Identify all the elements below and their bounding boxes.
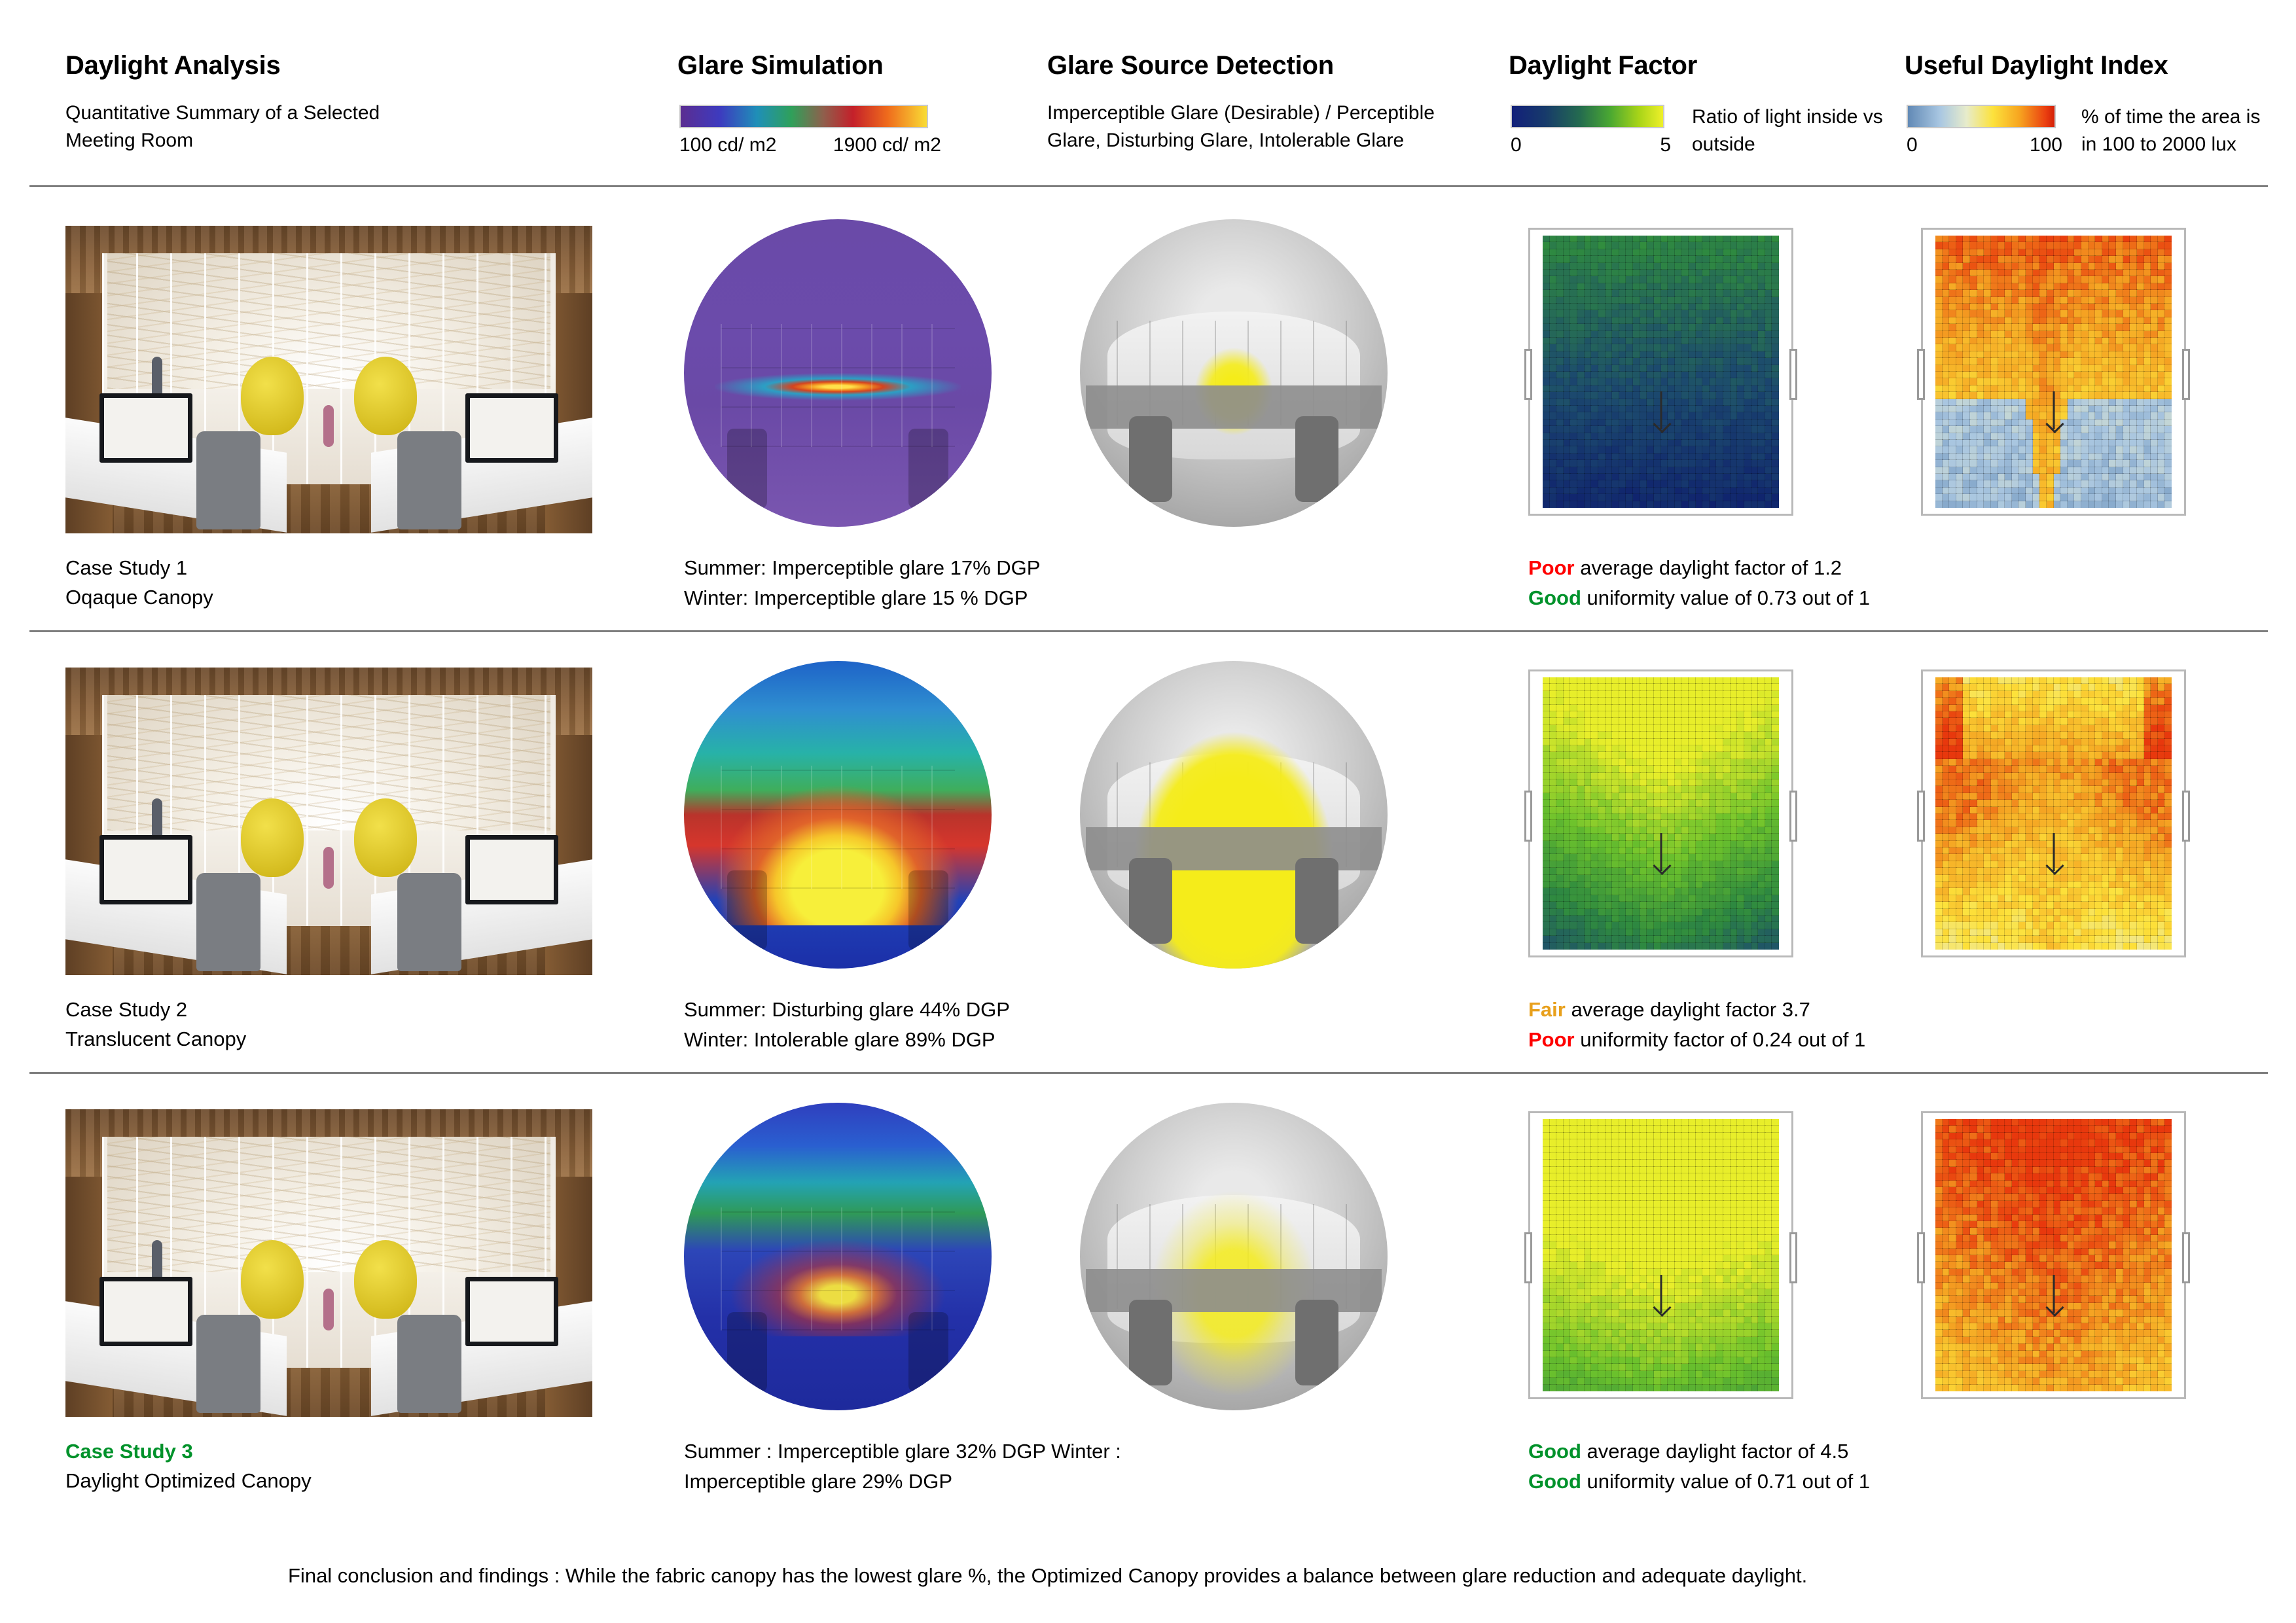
udi-max-label: 100 [2030,134,2062,156]
uniformity-rating-text: uniformity value of 0.73 out of 1 [1581,586,1870,609]
north-arrow [1660,833,1662,871]
header-divider [29,185,2268,187]
daylight-factor-result-text: Poor average daylight factor of 1.2Good … [1528,553,2065,613]
useful-daylight-index-heatmap [1921,1111,2186,1399]
uniformity-line: Good uniformity value of 0.73 out of 1 [1528,583,2065,613]
case-study-name: Oqaque Canopy [65,582,213,612]
daylight-factor-result-text: Fair average daylight factor 3.7Poor uni… [1528,995,2065,1055]
case-study-row: Case Study 2Translucent CanopySummer: Di… [0,638,2296,1070]
row1-divider [29,630,2268,632]
glare-sim-max-label: 1900 cd/ m2 [833,134,941,156]
glare-simulation-scale: 100 cd/ m2 1900 cd/ m2 [679,134,941,156]
glare-simulation-fisheye [684,219,992,527]
glare-simulation-fisheye [684,661,992,969]
north-arrow [1660,1275,1662,1313]
average-daylight-factor-line: Poor average daylight factor of 1.2 [1528,553,2065,583]
daylight-factor-heatmap [1528,1111,1793,1399]
case-study-label: Case Study 2 [65,995,246,1024]
glare-result-text: Summer: Imperceptible glare 17% DGPWinte… [684,553,1312,613]
uniformity-rating-badge: Good [1528,586,1581,609]
daylight-factor-heatmap [1528,228,1793,516]
glare-winter-line: Winter: Intolerable glare 89% DGP [684,1025,1312,1055]
glare-result-text: Summer: Disturbing glare 44% DGPWinter: … [684,995,1312,1055]
glare-winter-line: Winter: Imperceptible glare 15 % DGP [684,583,1312,613]
north-arrow [2053,391,2054,429]
case-study-name: Daylight Optimized Canopy [65,1466,312,1495]
df-rating-text: average daylight factor 3.7 [1566,998,1810,1021]
df-rating-badge: Good [1528,1440,1581,1463]
daylight-factor-result-text: Good average daylight factor of 4.5Good … [1528,1436,2065,1497]
glare-simulation-fisheye [684,1103,992,1410]
glare-simulation-title: Glare Simulation [677,51,884,80]
case-study-caption: Case Study 3Daylight Optimized Canopy [65,1436,312,1495]
useful-daylight-index-heatmap [1921,669,2186,957]
average-daylight-factor-line: Fair average daylight factor 3.7 [1528,995,2065,1025]
useful-daylight-index-title: Useful Daylight Index [1905,51,2168,80]
daylight-factor-colorbar [1511,105,1664,128]
df-rating-badge: Fair [1528,998,1566,1021]
glare-source-detection-fisheye [1080,1103,1388,1410]
case-study-row: Case Study 3Daylight Optimized CanopySum… [0,1080,2296,1512]
df-max-label: 5 [1660,134,1671,156]
glare-result-text: Summer : Imperceptible glare 32% DGP Win… [684,1436,1312,1497]
glare-source-detection-fisheye [1080,219,1388,527]
daylight-analysis-board: Daylight Analysis Quantitative Summary o… [0,0,2296,1623]
case-study-label: Case Study 3 [65,1436,312,1466]
uniformity-rating-text: uniformity value of 0.71 out of 1 [1581,1470,1870,1493]
page-subtitle: Quantitative Summary of a Selected Meeti… [65,99,432,154]
row2-divider [29,1072,2268,1074]
average-daylight-factor-line: Good average daylight factor of 4.5 [1528,1436,2065,1467]
interior-render-image [65,1109,592,1417]
uniformity-rating-badge: Good [1528,1470,1581,1493]
uniformity-line: Poor uniformity factor of 0.24 out of 1 [1528,1025,2065,1055]
udi-min-label: 0 [1907,134,1918,156]
interior-render-image [65,226,592,533]
useful-daylight-index-heatmap [1921,228,2186,516]
case-study-name: Translucent Canopy [65,1024,246,1054]
useful-daylight-index-colorbar [1907,105,2056,128]
glare-source-detection-fisheye [1080,661,1388,969]
df-rating-badge: Poor [1528,556,1575,579]
conclusion-text: Final conclusion and findings : While th… [288,1564,2055,1588]
df-min-label: 0 [1511,134,1522,156]
uniformity-line: Good uniformity value of 0.71 out of 1 [1528,1467,2065,1497]
glare-winter-line: Imperceptible glare 29% DGP [684,1467,1312,1497]
glare-sim-min-label: 100 cd/ m2 [679,134,776,156]
daylight-factor-scale: 0 5 [1511,134,1671,156]
uniformity-rating-badge: Poor [1528,1028,1575,1051]
north-arrow [1660,391,1662,429]
interior-render-image [65,668,592,975]
glare-summer-line: Summer : Imperceptible glare 32% DGP Win… [684,1436,1312,1467]
daylight-factor-description: Ratio of light inside vs outside [1692,103,1888,158]
glare-summer-line: Summer: Imperceptible glare 17% DGP [684,553,1312,583]
north-arrow [2053,833,2054,871]
board-header: Daylight Analysis Quantitative Summary o… [0,0,2296,180]
case-study-row: Case Study 1Oqaque CanopySummer: Imperce… [0,196,2296,628]
glare-simulation-colorbar [679,105,928,128]
uniformity-rating-text: uniformity factor of 0.24 out of 1 [1575,1028,1866,1051]
df-rating-text: average daylight factor of 1.2 [1575,556,1842,579]
north-arrow [2053,1275,2054,1313]
case-study-label: Case Study 1 [65,553,213,582]
daylight-factor-heatmap [1528,669,1793,957]
glare-summer-line: Summer: Disturbing glare 44% DGP [684,995,1312,1025]
df-rating-text: average daylight factor of 4.5 [1581,1440,1848,1463]
page-title: Daylight Analysis [65,51,281,80]
useful-daylight-index-description: % of time the area is in 100 to 2000 lux [2081,103,2278,158]
case-study-caption: Case Study 1Oqaque Canopy [65,553,213,612]
case-study-caption: Case Study 2Translucent Canopy [65,995,246,1054]
useful-daylight-index-scale: 0 100 [1907,134,2062,156]
glare-source-detection-title: Glare Source Detection [1047,51,1334,80]
daylight-factor-title: Daylight Factor [1509,51,1697,80]
glare-source-detection-subtitle: Imperceptible Glare (Desirable) / Percep… [1047,99,1466,154]
